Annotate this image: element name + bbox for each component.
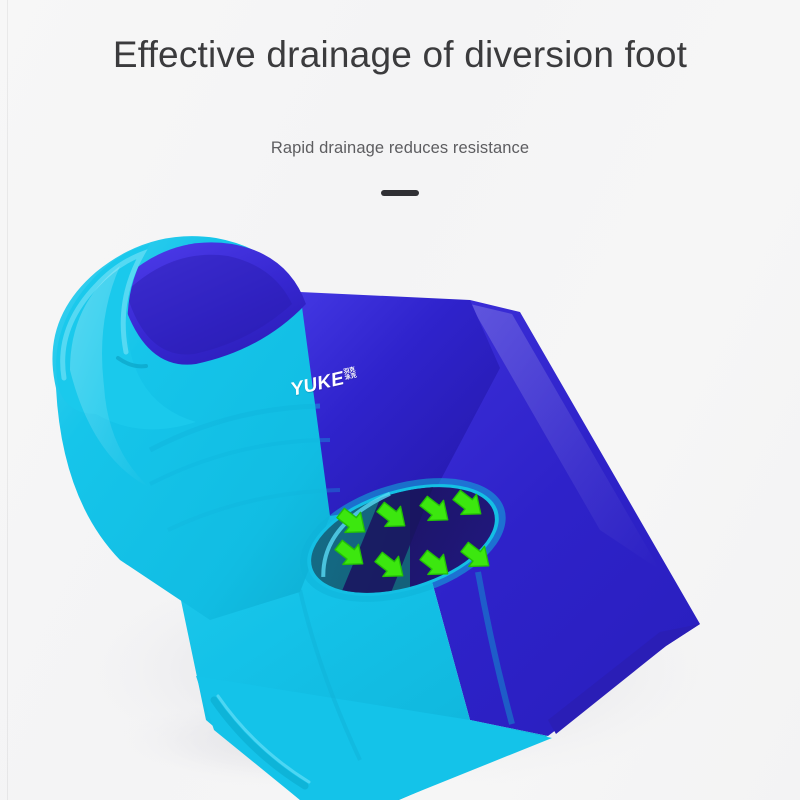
- product-image-swim-fin: [0, 200, 800, 800]
- product-feature-banner: Effective drainage of diversion foot Rap…: [0, 0, 800, 800]
- page-title: Effective drainage of diversion foot: [0, 34, 800, 77]
- title-divider-dash: [381, 190, 419, 196]
- page-subtitle: Rapid drainage reduces resistance: [0, 139, 800, 158]
